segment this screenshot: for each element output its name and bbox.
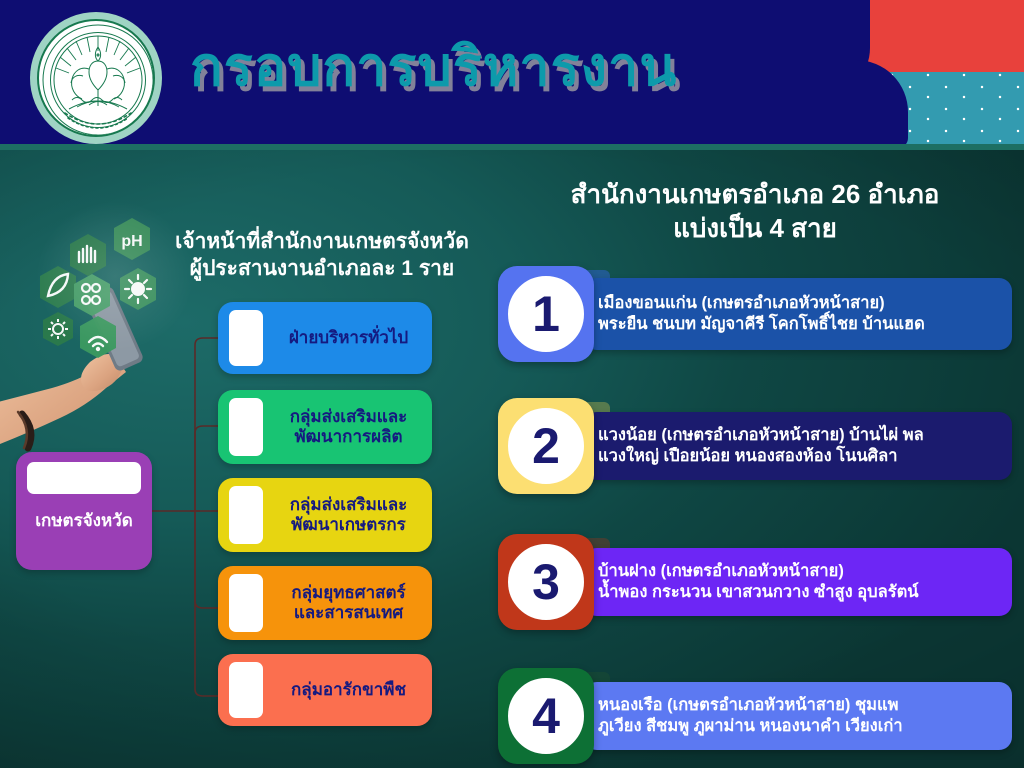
right-panel-heading: สำนักงานเกษตรอำเภอ 26 อำเภอ แบ่งเป็น 4 ส… [520,178,990,246]
group-badge-2[interactable]: 2 [498,398,594,494]
group-badge-1[interactable]: 1 [498,266,594,362]
dept-tab-1 [229,310,263,366]
group-ring-3: 3 [508,544,584,620]
right-heading-line-2: แบ่งเป็น 4 สาย [520,212,990,246]
dept-node-2[interactable]: กลุ่มส่งเสริมและ พัฒนาการผลิต [218,390,432,464]
group-1-line-2: พระยืน ชนบท มัญจาคีรี โคกโพธิ์ไชย บ้านแฮ… [598,314,998,335]
root-node-label: เกษตรจังหวัด [16,507,152,534]
group-badge-4[interactable]: 4 [498,668,594,764]
group-4-line-1: หนองเรือ (เกษตรอำเภอหัวหน้าสาย) ชุมแพ [598,695,998,716]
group-2-line-2: แวงใหญ่ เปือยน้อย หนองสองห้อง โนนศิลา [598,446,998,467]
org-chart-connectors [0,0,1024,768]
group-number-1: 1 [532,289,560,339]
dept-tab-3 [229,486,263,544]
group-number-2: 2 [532,421,560,471]
group-number-3: 3 [532,557,560,607]
group-ring-2: 2 [508,408,584,484]
group-bar-4: หนองเรือ (เกษตรอำเภอหัวหน้าสาย) ชุมแพ ภู… [584,682,1012,750]
infographic-canvas: กรอบการบริหารงาน [0,0,1024,768]
dept-label-1: ฝ่ายบริหารทั่วไป [275,328,422,348]
dept-label-3: กลุ่มส่งเสริมและ พัฒนาเกษตรกร [275,495,422,534]
org-root-node[interactable]: เกษตรจังหวัด [16,452,152,570]
group-bar-1: เมืองขอนแก่น (เกษตรอำเภอหัวหน้าสาย) พระย… [584,278,1012,350]
dept-node-5[interactable]: กลุ่มอารักขาพืช [218,654,432,726]
group-number-4: 4 [532,691,560,741]
group-3-line-2: น้ำพอง กระนวน เขาสวนกวาง ซำสูง อุบลรัตน์ [598,582,998,603]
group-1-line-1: เมืองขอนแก่น (เกษตรอำเภอหัวหน้าสาย) [598,293,998,314]
dept-label-2: กลุ่มส่งเสริมและ พัฒนาการผลิต [275,407,422,446]
dept-node-1[interactable]: ฝ่ายบริหารทั่วไป [218,302,432,374]
dept-tab-5 [229,662,263,718]
dept-node-4[interactable]: กลุ่มยุทธศาสตร์ และสารสนเทศ [218,566,432,640]
group-bar-3: บ้านฝาง (เกษตรอำเภอหัวหน้าสาย) น้ำพอง กร… [584,548,1012,616]
right-heading-line-1: สำนักงานเกษตรอำเภอ 26 อำเภอ [520,178,990,212]
dept-node-3[interactable]: กลุ่มส่งเสริมและ พัฒนาเกษตรกร [218,478,432,552]
dept-label-5: กลุ่มอารักขาพืช [275,680,422,700]
group-2-line-1: แวงน้อย (เกษตรอำเภอหัวหน้าสาย) บ้านไผ่ พ… [598,425,998,446]
group-badge-3[interactable]: 3 [498,534,594,630]
group-ring-1: 1 [508,276,584,352]
group-bar-2: แวงน้อย (เกษตรอำเภอหัวหน้าสาย) บ้านไผ่ พ… [584,412,1012,480]
dept-label-4: กลุ่มยุทธศาสตร์ และสารสนเทศ [275,583,422,622]
dept-tab-2 [229,398,263,456]
group-3-line-1: บ้านฝาง (เกษตรอำเภอหัวหน้าสาย) [598,561,998,582]
root-node-tab [27,462,141,494]
dept-tab-4 [229,574,263,632]
group-4-line-2: ภูเวียง สีชมพู ภูผาม่าน หนองนาคำ เวียงเก… [598,716,998,737]
group-ring-4: 4 [508,678,584,754]
